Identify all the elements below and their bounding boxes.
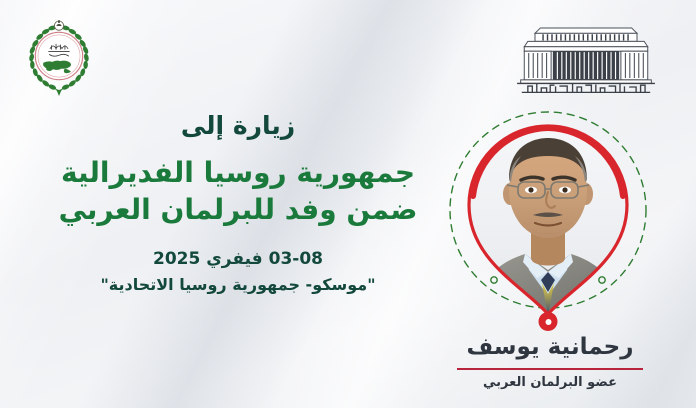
person-role: عضو البرلمان العربي [430,375,670,391]
visit-kicker: زيارة إلى [14,112,462,141]
name-divider [457,368,643,370]
national-peoples-assembly-logo [501,10,671,96]
arab-parliament-emblem [22,16,96,96]
headline-block: زيارة إلى جمهورية روسيا الفديرالية ضمن و… [14,112,462,295]
headline-line-2: ضمن وفد للبرلمان العربي [14,192,462,229]
event-meta: 03-08 فيفري 2025 "موسكو- جمهورية روسيا ا… [14,248,462,296]
portrait-pin [446,108,650,326]
map-pin-icon [539,312,558,331]
event-date: 03-08 فيفري 2025 [14,248,462,271]
portrait-photo [463,120,633,316]
person-name-block: رحمانية يوسف عضو البرلمان العربي [430,334,670,390]
event-place: "موسكو- جمهورية روسيا الاتحادية" [14,274,462,296]
person-name: رحمانية يوسف [430,334,670,362]
headline-text: جمهورية روسيا الفديرالية ضمن وفد للبرلما… [14,155,462,229]
visit-announcement-poster: زيارة إلى جمهورية روسيا الفديرالية ضمن و… [0,0,696,408]
headline-line-1: جمهورية روسيا الفديرالية [61,156,415,189]
